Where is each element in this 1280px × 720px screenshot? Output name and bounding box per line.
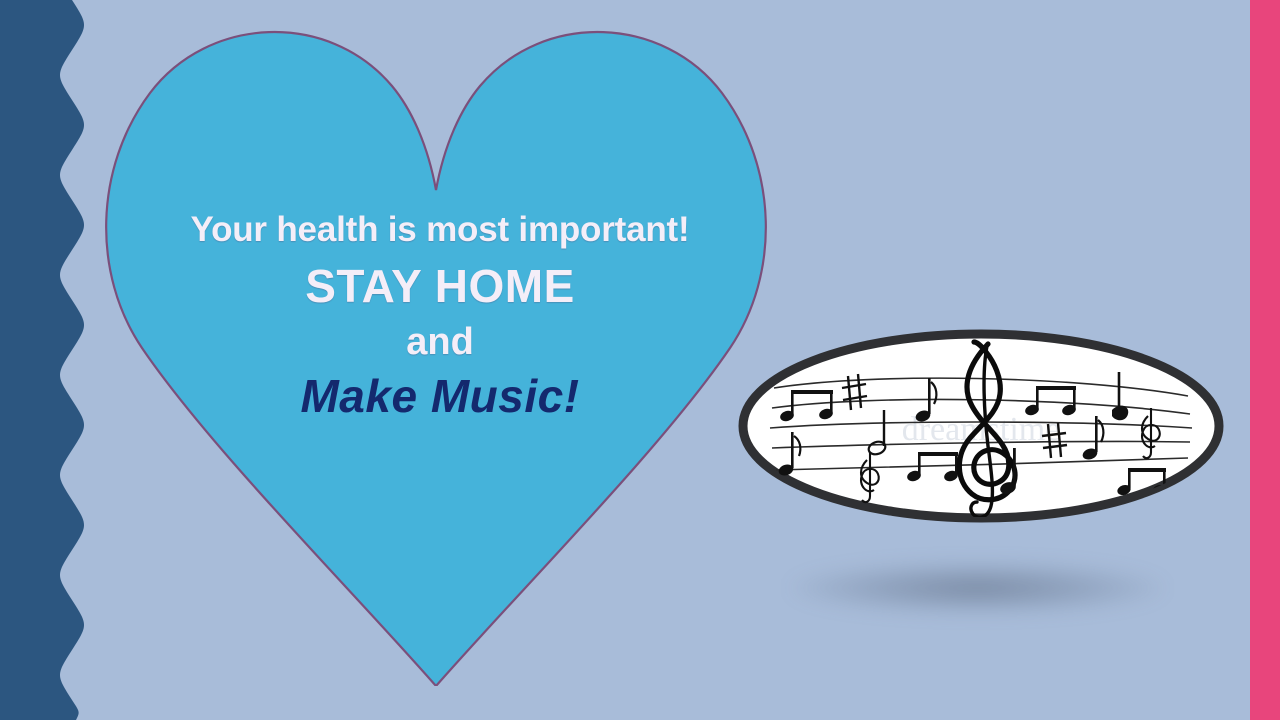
slide-canvas: Your health is most important! STAY HOME… [0,0,1280,720]
left-wavy-band [0,0,100,720]
right-pink-band [1250,0,1280,720]
left-band-shape [0,0,84,720]
heart-message-block: Your health is most important! STAY HOME… [110,212,770,419]
message-line-2: STAY HOME [110,263,770,309]
message-line-3: and [110,323,770,361]
message-line-1: Your health is most important! [110,212,770,247]
music-staff-oval: dreamstime [736,328,1226,524]
music-oval-shadow [790,562,1165,614]
message-line-4: Make Music! [110,373,770,419]
